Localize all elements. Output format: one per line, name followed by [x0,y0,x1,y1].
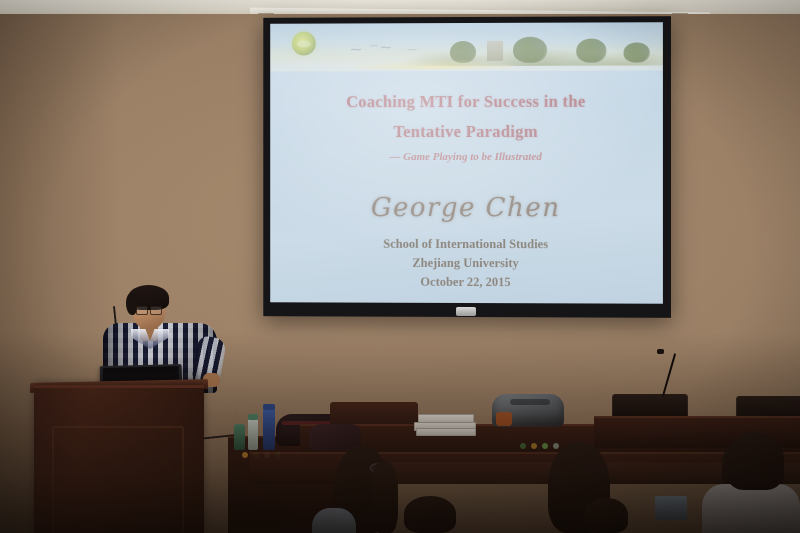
screen-pull-handle[interactable] [456,307,476,316]
slide-affiliation-school: School of International Studies [270,237,663,253]
bird-icon-2: ⁔ [369,37,378,46]
bird-icon-4: ⁔ [407,41,416,50]
foreground-shadow [0,333,800,533]
slide-banner-image: ⁓ ⁔ ⁓ ⁔ [270,22,663,71]
screen-surface: ⁓ ⁔ ⁓ ⁔ Coaching MTI for Success in the … [270,22,663,304]
slide-affiliation-university: Zhejiang University [270,256,663,272]
slide-title-line2: Tentative Paradigm [270,122,663,142]
slide-date: October 22, 2015 [270,274,663,290]
lecture-hall-photo: ⁓ ⁔ ⁓ ⁔ Coaching MTI for Success in the … [0,0,800,533]
banner-tree-4 [623,42,649,62]
slide-title-line1: Coaching MTI for Success in the [270,92,663,113]
bird-icon-1: ⁓ [350,45,361,54]
banner-tree-3 [576,39,606,63]
slide-presenter-name: George Chen [270,193,663,223]
bird-icon-3: ⁓ [380,43,391,52]
slide-content: Coaching MTI for Success in the Tentativ… [270,70,663,303]
slide-subtitle: — Game Playing to be Illustrated [270,151,663,163]
projection-screen: ⁓ ⁔ ⁓ ⁔ Coaching MTI for Success in the … [263,16,671,318]
glasses-icon [136,306,162,313]
banner-tree-2 [513,37,547,63]
university-seal-icon [292,32,316,56]
banner-light-glow [356,53,513,69]
